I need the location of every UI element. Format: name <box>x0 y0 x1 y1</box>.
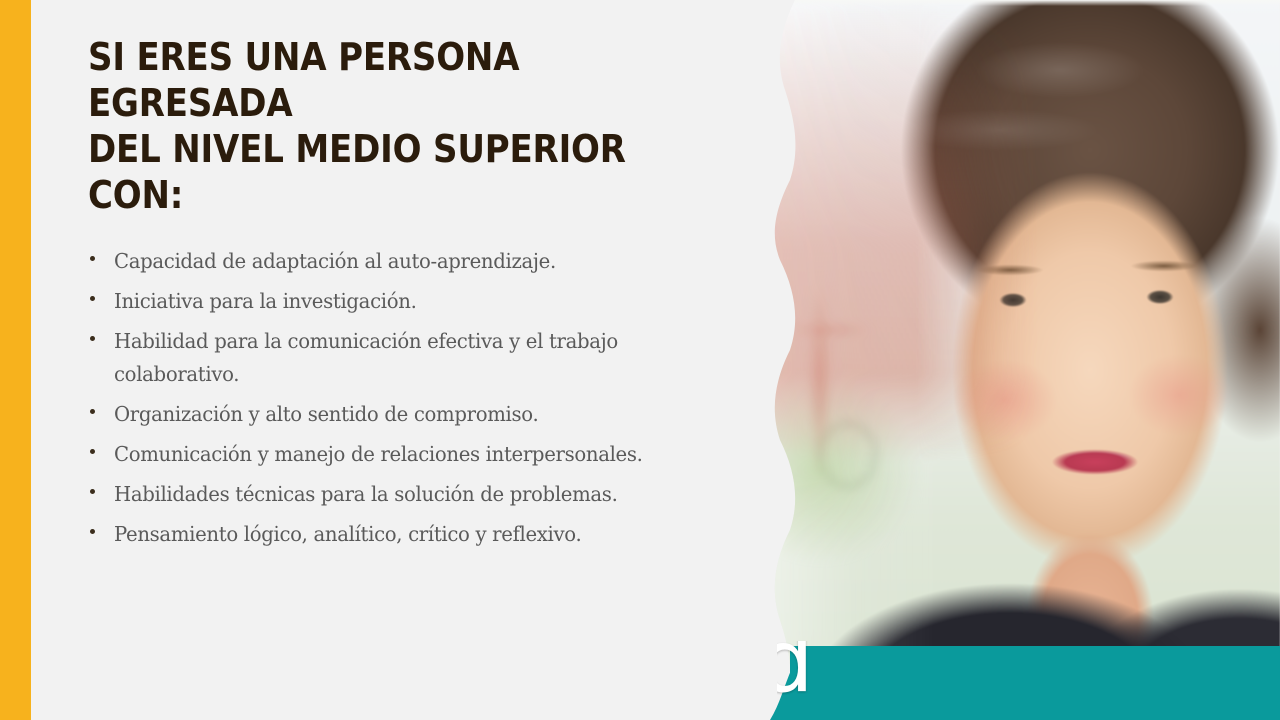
slide: d SI ERES UNA PERSONA EGRESADA DEL NIVEL… <box>0 0 1280 720</box>
requirements-list: Capacidad de adaptación al auto-aprendiz… <box>90 245 710 558</box>
list-item: Habilidad para la comunicación efectiva … <box>90 325 710 391</box>
list-item: Iniciativa para la investigación. <box>90 285 710 318</box>
list-item-label: Iniciativa para la investigación. <box>114 285 686 318</box>
photo-top-edge <box>760 0 1280 6</box>
bullet-dot-icon <box>90 245 114 261</box>
list-item-label: Pensamiento lógico, analítico, crítico y… <box>114 518 686 551</box>
bullet-dot-icon <box>90 478 114 494</box>
bullet-dot-icon <box>90 518 114 534</box>
list-item: Capacidad de adaptación al auto-aprendiz… <box>90 245 710 278</box>
photo-background-blur <box>760 0 1280 720</box>
bullet-dot-icon <box>90 285 114 301</box>
bullet-dot-icon <box>90 325 114 341</box>
footer-band <box>790 646 1280 720</box>
left-accent-bar <box>0 0 31 720</box>
list-item: Pensamiento lógico, analítico, crítico y… <box>90 518 710 551</box>
list-item: Comunicación y manejo de relaciones inte… <box>90 438 710 471</box>
list-item-label: Comunicación y manejo de relaciones inte… <box>114 438 686 471</box>
list-item: Habilidades técnicas para la solución de… <box>90 478 710 511</box>
portrait-photo <box>760 0 1280 720</box>
page-title: SI ERES UNA PERSONA EGRESADA DEL NIVEL M… <box>88 34 679 218</box>
photo-wave-clip <box>760 0 1280 720</box>
footer-partial-glyph: d <box>777 641 837 720</box>
list-item-label: Organización y alto sentido de compromis… <box>114 398 686 431</box>
bullet-dot-icon <box>90 398 114 414</box>
list-item-label: Capacidad de adaptación al auto-aprendiz… <box>114 245 686 278</box>
list-item-label: Habilidad para la comunicación efectiva … <box>114 325 686 391</box>
list-item: Organización y alto sentido de compromis… <box>90 398 710 431</box>
bullet-dot-icon <box>90 438 114 454</box>
footer-glyph-text: d <box>777 641 814 705</box>
page-title-line-1: SI ERES UNA PERSONA EGRESADA <box>88 34 679 126</box>
list-item-label: Habilidades técnicas para la solución de… <box>114 478 686 511</box>
page-title-line-2: DEL NIVEL MEDIO SUPERIOR CON: <box>88 126 679 218</box>
